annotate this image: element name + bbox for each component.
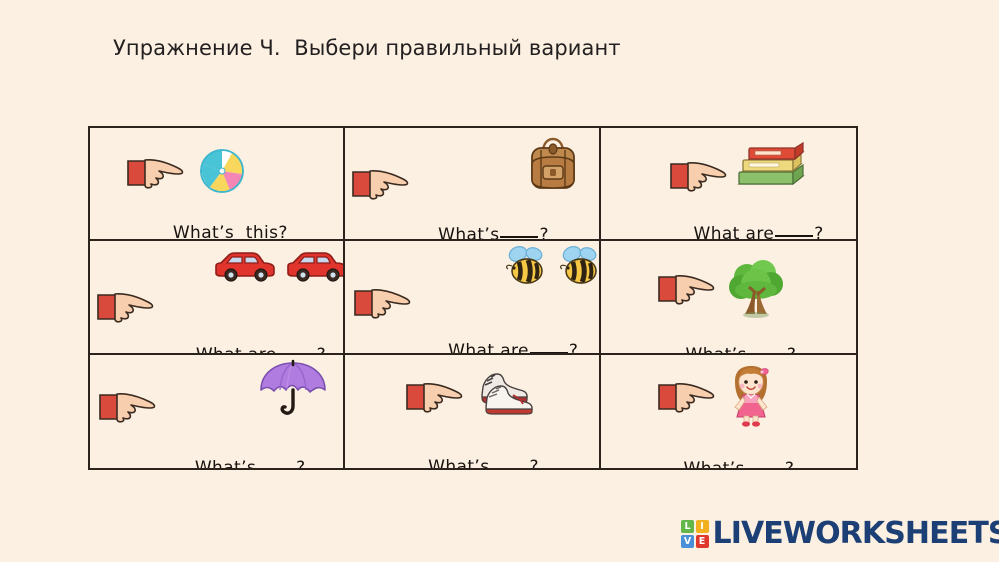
liveworksheets-logo[interactable]: L I V E LIVEWORKSHEETS <box>681 514 999 554</box>
pointing-hand-icon <box>405 379 467 413</box>
two-bees-icon <box>557 243 600 293</box>
worksheet-cell-4[interactable]: What are? <box>90 241 345 354</box>
worksheet-cell-2[interactable]: What’s? <box>345 128 600 241</box>
sneakers-icon <box>473 367 535 419</box>
cell-7-question-suffix: ? <box>296 458 305 468</box>
pointing-hand-icon <box>126 155 188 189</box>
cell-2-question-suffix: ? <box>539 225 548 241</box>
two-cars-icon <box>212 249 278 287</box>
worksheet-grid: What’s this? What’s? <box>88 126 858 470</box>
umbrella-icon <box>255 359 333 425</box>
pointing-hand-icon <box>351 166 413 200</box>
cell-2-question-prefix: What’s <box>438 225 499 241</box>
pointing-hand-icon <box>669 158 731 192</box>
cell-5-art <box>503 243 600 293</box>
logo-tile-v: V <box>681 535 694 548</box>
cell-3-question-suffix: ? <box>814 224 823 241</box>
cell-6-question-suffix: ? <box>787 345 796 354</box>
logo-tile-i: I <box>696 520 709 533</box>
cell-9-question-suffix: ? <box>785 459 794 468</box>
cell-6-question: What’s? <box>651 325 797 354</box>
two-bees-icon <box>503 243 553 293</box>
cell-1-question: What’s this? <box>138 203 288 241</box>
cell-4-question-suffix: ? <box>317 345 326 354</box>
cell-8-art <box>405 367 535 419</box>
cell-9-art <box>657 365 777 431</box>
beach-ball-icon <box>198 146 246 198</box>
cell-9-question: What’s? <box>649 439 795 468</box>
cell-5-question-suffix: ? <box>569 341 578 354</box>
pointing-hand-icon <box>96 289 158 323</box>
cell-3-blank[interactable] <box>775 235 813 237</box>
cell-3-question: What are? <box>659 204 824 241</box>
page-title: Упражнение Ч. Выбери правильный вариант <box>113 36 621 60</box>
cell-9-question-prefix: What’s <box>683 459 744 468</box>
logo-tile-l: L <box>681 520 694 533</box>
worksheet-cell-5[interactable]: What are? <box>345 241 600 354</box>
worksheet-cell-6[interactable]: What’s? <box>601 241 856 354</box>
logo-tile-e: E <box>696 535 709 548</box>
cell-6-question-prefix: What’s <box>685 345 746 354</box>
cell-7-question: What’s? <box>160 438 306 468</box>
tree-icon <box>727 257 785 323</box>
cell-2-question: What’s? <box>403 205 549 241</box>
cell-8-question-suffix: ? <box>529 457 538 468</box>
cell-7-question-prefix: What’s <box>195 458 256 468</box>
cell-8-question-prefix: What’s <box>428 457 489 468</box>
cell-4-question-prefix: What are <box>196 345 277 354</box>
books-stack-icon <box>735 140 807 198</box>
worksheet-cell-9[interactable]: What’s? <box>601 355 856 468</box>
cell-5-question-prefix: What are <box>448 341 529 354</box>
cell-1-question-text: What’s this? <box>173 223 288 241</box>
liveworksheets-logo-tiles: L I V E <box>681 520 709 548</box>
cell-4-art <box>212 249 345 287</box>
pointing-hand-icon <box>657 271 719 305</box>
cell-6-art <box>657 257 785 323</box>
logo-wordmark: LIVEWORKSHEETS <box>713 519 999 549</box>
cell-3-art <box>669 140 807 198</box>
cell-1-art <box>126 146 246 198</box>
cell-2-blank[interactable] <box>500 236 538 238</box>
doll-icon <box>725 365 777 431</box>
worksheet-cell-8[interactable]: What’s? <box>345 355 600 468</box>
cell-4-question: What are? <box>161 325 326 354</box>
pointing-hand-icon <box>353 285 415 319</box>
two-cars-icon <box>284 249 345 287</box>
cell-5-question: What are? <box>413 321 578 354</box>
pointing-hand-icon <box>98 389 160 423</box>
backpack-icon <box>525 136 581 198</box>
cell-8-question: What’s? <box>393 437 539 468</box>
cell-3-question-prefix: What are <box>693 224 774 241</box>
worksheet-cell-1[interactable]: What’s this? <box>90 128 345 241</box>
worksheet-cell-7[interactable]: What’s? <box>90 355 345 468</box>
worksheet-cell-3[interactable]: What are? <box>601 128 856 241</box>
pointing-hand-icon <box>657 379 719 413</box>
